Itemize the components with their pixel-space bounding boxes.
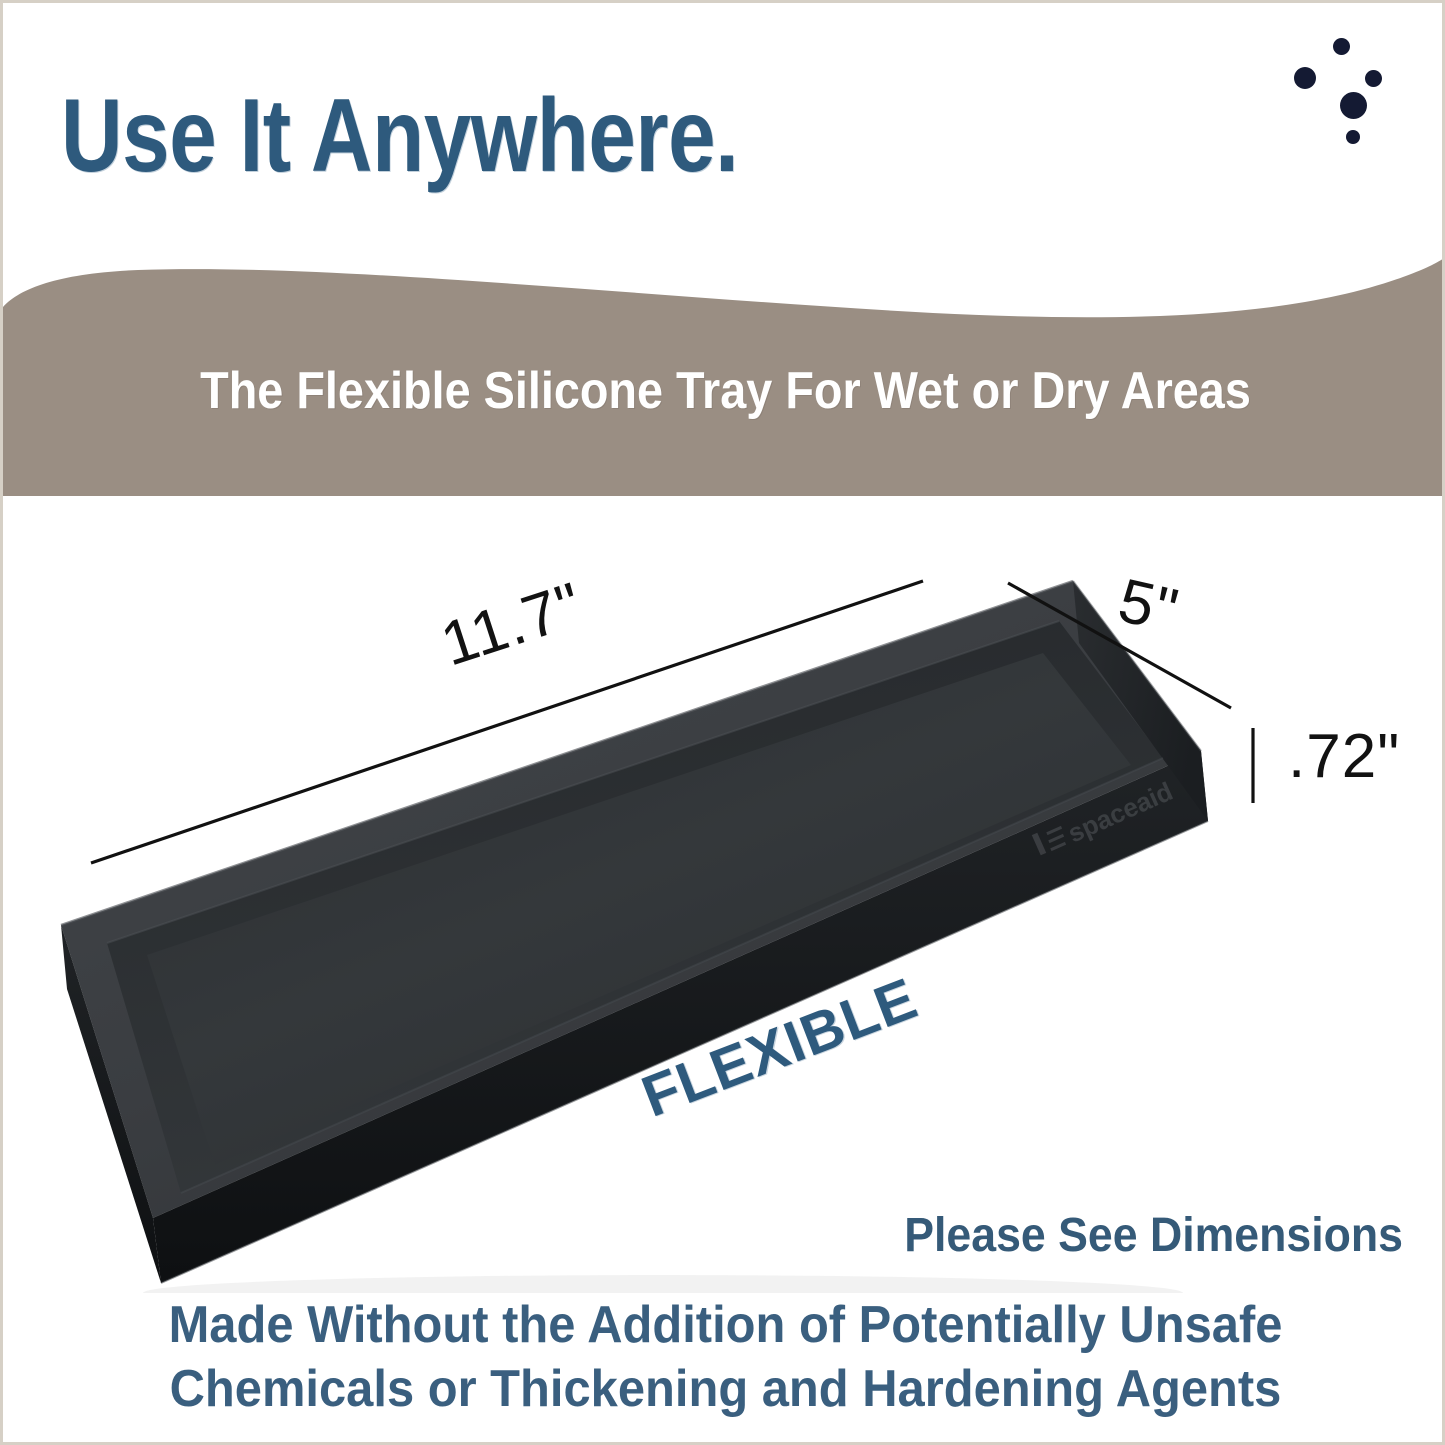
dimension-label-height: .72" bbox=[1288, 721, 1400, 792]
decor-dot-top bbox=[1333, 38, 1350, 55]
safety-claim-line-2: Chemicals or Thickening and Hardening Ag… bbox=[46, 1357, 1404, 1421]
decorative-dots-cluster bbox=[1288, 28, 1438, 158]
product-infographic-page: Use It Anywhere. The Flexible Silicone T… bbox=[0, 0, 1445, 1445]
tray-drawing: spaceaid bbox=[3, 503, 1445, 1293]
decor-dot-left bbox=[1294, 67, 1316, 89]
decor-dot-bottom bbox=[1346, 130, 1360, 144]
product-illustration: spaceaid bbox=[3, 503, 1445, 1293]
subheadline-banner: The Flexible Silicone Tray For Wet or Dr… bbox=[3, 255, 1445, 500]
banner-subheadline: The Flexible Silicone Tray For Wet or Dr… bbox=[75, 255, 1376, 419]
decor-dot-right bbox=[1365, 70, 1382, 87]
safety-claim-block: Made Without the Addition of Potentially… bbox=[46, 1293, 1404, 1421]
decor-dot-center-large bbox=[1340, 92, 1367, 119]
see-dimensions-note: Please See Dimensions bbox=[101, 1208, 1403, 1263]
safety-claim-line-1: Made Without the Addition of Potentially… bbox=[46, 1293, 1404, 1357]
page-headline: Use It Anywhere. bbox=[61, 81, 738, 191]
